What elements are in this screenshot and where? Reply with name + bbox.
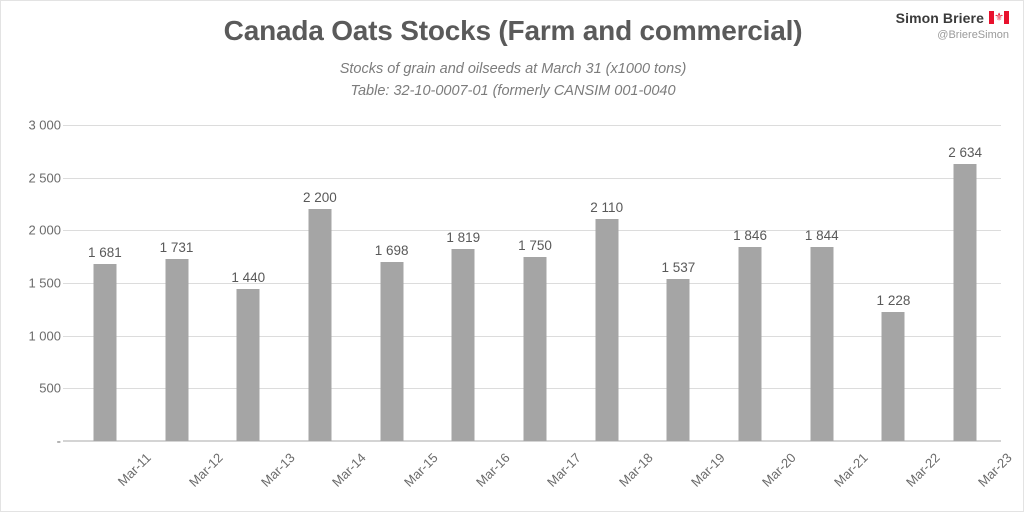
bar-value-label: 2 634 xyxy=(948,145,982,160)
x-axis-tick-label: Mar-16 xyxy=(427,445,499,463)
chart-container: Simon Briere⚜ @BriereSimon Canada Oats S… xyxy=(0,0,1024,512)
bar-group[interactable]: 1 537 xyxy=(643,125,715,441)
bar[interactable] xyxy=(882,312,905,441)
bar-group[interactable]: 2 200 xyxy=(284,125,356,441)
y-axis-tick-label: 500 xyxy=(5,381,61,396)
bar[interactable] xyxy=(810,247,833,441)
bar[interactable] xyxy=(954,164,977,441)
bar-value-label: 1 440 xyxy=(231,270,265,285)
x-axis-tick-label: Mar-11 xyxy=(69,445,141,463)
bar-group[interactable]: 2 634 xyxy=(929,125,1001,441)
bar-value-label: 1 731 xyxy=(160,240,194,255)
x-axis-tick-label: Mar-18 xyxy=(571,445,643,463)
bar-value-label: 1 819 xyxy=(446,230,480,245)
bar-value-label: 1 698 xyxy=(375,243,409,258)
bar-group[interactable]: 2 110 xyxy=(571,125,643,441)
bar-value-label: 1 228 xyxy=(877,293,911,308)
bar-group[interactable]: 1 844 xyxy=(786,125,858,441)
bar[interactable] xyxy=(308,209,331,441)
y-axis-tick-label: 3 000 xyxy=(5,118,61,133)
bar-value-label: 1 681 xyxy=(88,245,122,260)
bar-group[interactable]: 1 440 xyxy=(212,125,284,441)
y-axis-tick-label: 2 000 xyxy=(5,223,61,238)
bar-value-label: 2 200 xyxy=(303,190,337,205)
y-axis-tick-label: - xyxy=(5,434,61,449)
x-axis-tick-label: Mar-21 xyxy=(786,445,858,463)
bar-group[interactable]: 1 750 xyxy=(499,125,571,441)
bar[interactable] xyxy=(595,219,618,441)
bar[interactable] xyxy=(93,264,116,441)
bar-group[interactable]: 1 819 xyxy=(427,125,499,441)
bar[interactable] xyxy=(165,259,188,441)
bar-value-label: 1 750 xyxy=(518,238,552,253)
bar-group[interactable]: 1 731 xyxy=(141,125,213,441)
x-axis-tick-label: Mar-15 xyxy=(356,445,428,463)
bar-group[interactable]: 1 681 xyxy=(69,125,141,441)
bar[interactable] xyxy=(380,262,403,441)
bar[interactable] xyxy=(667,279,690,441)
x-axis-tick-label: Mar-19 xyxy=(643,445,715,463)
bar-group[interactable]: 1 698 xyxy=(356,125,428,441)
x-axis-tick-label: Mar-14 xyxy=(284,445,356,463)
y-axis: -5001 0001 5002 0002 5003 000 xyxy=(1,125,61,441)
x-axis: Mar-11Mar-12Mar-13Mar-14Mar-15Mar-16Mar-… xyxy=(69,445,1001,505)
y-axis-tick-label: 1 500 xyxy=(5,276,61,291)
chart-subtitle-line2: Table: 32-10-0007-01 (formerly CANSIM 00… xyxy=(1,83,1024,99)
x-axis-tick-label: Mar-12 xyxy=(141,445,213,463)
bar-group[interactable]: 1 228 xyxy=(858,125,930,441)
bar[interactable] xyxy=(739,247,762,441)
x-axis-tick-text: Mar-23 xyxy=(975,450,1015,490)
x-axis-tick-label: Mar-20 xyxy=(714,445,786,463)
bar-value-label: 2 110 xyxy=(590,200,623,215)
y-axis-tick-label: 2 500 xyxy=(5,170,61,185)
bar-value-label: 1 846 xyxy=(733,228,767,243)
plot-area: 1 6811 7311 4402 2001 6981 8191 7502 110… xyxy=(69,125,1001,441)
x-axis-tick-label: Mar-23 xyxy=(929,445,1001,463)
bar[interactable] xyxy=(452,249,475,441)
bar-value-label: 1 537 xyxy=(661,260,695,275)
bar-value-label: 1 844 xyxy=(805,228,839,243)
chart-subtitle-line1: Stocks of grain and oilseeds at March 31… xyxy=(1,61,1024,77)
bar-group[interactable]: 1 846 xyxy=(714,125,786,441)
bar[interactable] xyxy=(523,257,546,441)
x-axis-tick-label: Mar-22 xyxy=(858,445,930,463)
chart-title: Canada Oats Stocks (Farm and commercial) xyxy=(1,15,1024,47)
bar[interactable] xyxy=(237,289,260,441)
x-axis-tick-label: Mar-17 xyxy=(499,445,571,463)
x-axis-tick-label: Mar-13 xyxy=(212,445,284,463)
y-axis-tick-label: 1 000 xyxy=(5,328,61,343)
